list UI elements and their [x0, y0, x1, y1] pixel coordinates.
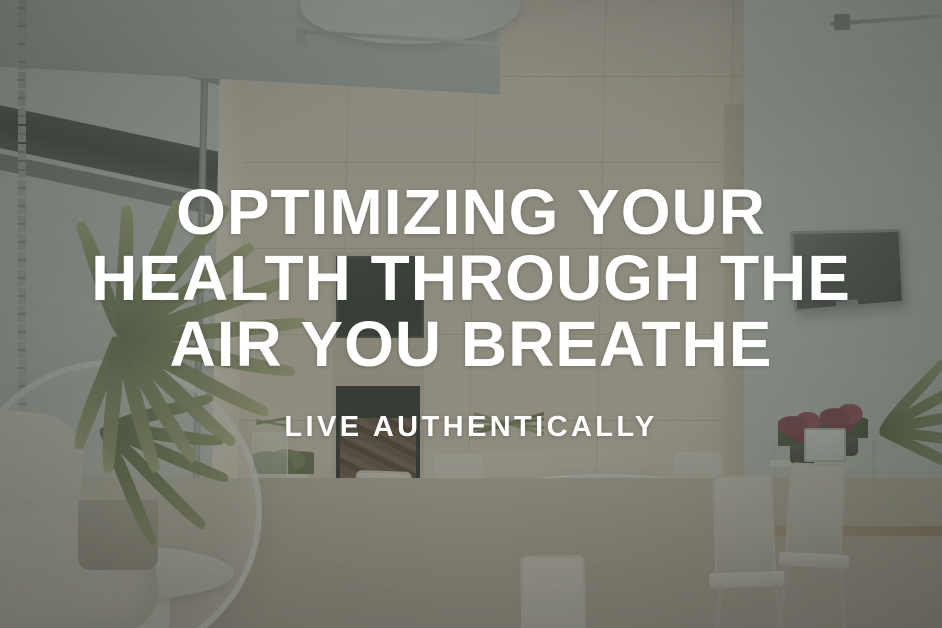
headline-line-2: HEALTH THROUGH THE	[91, 245, 851, 311]
headline-line-1: OPTIMIZING YOUR	[91, 179, 851, 245]
page-title: OPTIMIZING YOUR HEALTH THROUGH THE AIR Y…	[91, 179, 851, 377]
page-subtitle: LIVE AUTHENTICALLY	[284, 411, 657, 444]
hero-banner: OPTIMIZING YOUR HEALTH THROUGH THE AIR Y…	[0, 0, 942, 628]
banner-text-block: OPTIMIZING YOUR HEALTH THROUGH THE AIR Y…	[0, 0, 942, 628]
headline-line-3: AIR YOU BREATHE	[91, 311, 851, 377]
